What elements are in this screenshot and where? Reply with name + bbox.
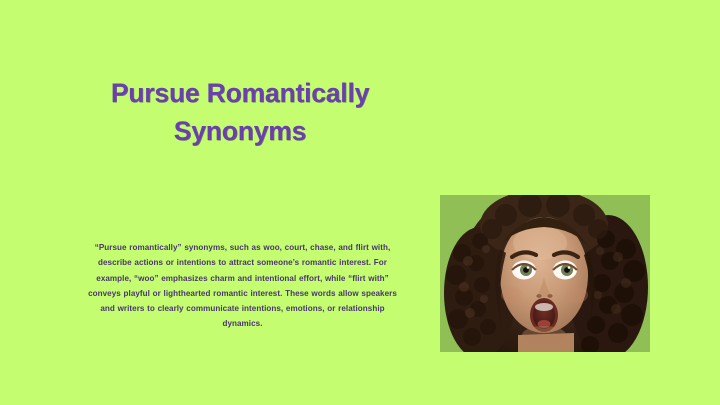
slide-title-line-2: Synonyms bbox=[62, 112, 418, 150]
photo-illustration bbox=[440, 195, 650, 352]
slide-title: Pursue Romantically Synonyms bbox=[62, 74, 418, 150]
slide-body-text: “Pursue romantically” synonyms, such as … bbox=[80, 240, 405, 332]
slide-canvas: Pursue Romantically Synonyms “Pursue rom… bbox=[0, 0, 720, 405]
slide-title-line-1: Pursue Romantically bbox=[62, 74, 418, 112]
surprised-woman-photo bbox=[440, 195, 650, 352]
slide-body: “Pursue romantically” synonyms, such as … bbox=[80, 240, 405, 332]
